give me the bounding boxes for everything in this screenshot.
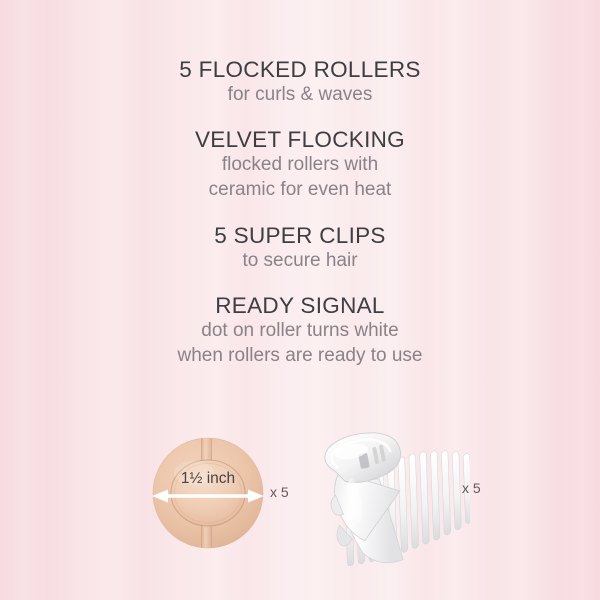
clip-quantity-label: x 5 xyxy=(462,480,481,496)
feature-subtitle-velvet-flocking-line-2: ceramic for even heat xyxy=(0,178,600,203)
feature-title-ready-signal: READY SIGNAL xyxy=(0,292,600,319)
product-illustration-row: 1½ inch x 5 xyxy=(0,420,600,600)
feature-subtitle-velvet-flocking-line-1: flocked rollers with xyxy=(0,153,600,178)
feature-subtitle-flocked-rollers-line-1: for curls & waves xyxy=(0,83,600,108)
dimension-arrow-icon xyxy=(150,488,266,504)
feature-subtitle-ready-signal-line-2: when rollers are ready to use xyxy=(0,344,600,369)
roller-product-group: 1½ inch x 5 xyxy=(152,432,312,582)
super-clip-icon xyxy=(305,420,470,575)
roller-quantity-label: x 5 xyxy=(270,484,289,500)
feature-subtitle-ready-signal-line-1: dot on roller turns white xyxy=(0,319,600,344)
feature-block-flocked-rollers: 5 FLOCKED ROLLERS for curls & waves xyxy=(0,56,600,108)
feature-block-super-clips: 5 SUPER CLIPS to secure hair xyxy=(0,222,600,274)
feature-title-super-clips: 5 SUPER CLIPS xyxy=(0,222,600,249)
feature-title-velvet-flocking: VELVET FLOCKING xyxy=(0,126,600,153)
clip-product-group: x 5 xyxy=(305,420,505,580)
feature-block-velvet-flocking: VELVET FLOCKING flocked rollers with cer… xyxy=(0,126,600,202)
feature-block-ready-signal: READY SIGNAL dot on roller turns white w… xyxy=(0,292,600,368)
feature-subtitle-super-clips-line-1: to secure hair xyxy=(0,249,600,274)
feature-title-flocked-rollers: 5 FLOCKED ROLLERS xyxy=(0,56,600,83)
